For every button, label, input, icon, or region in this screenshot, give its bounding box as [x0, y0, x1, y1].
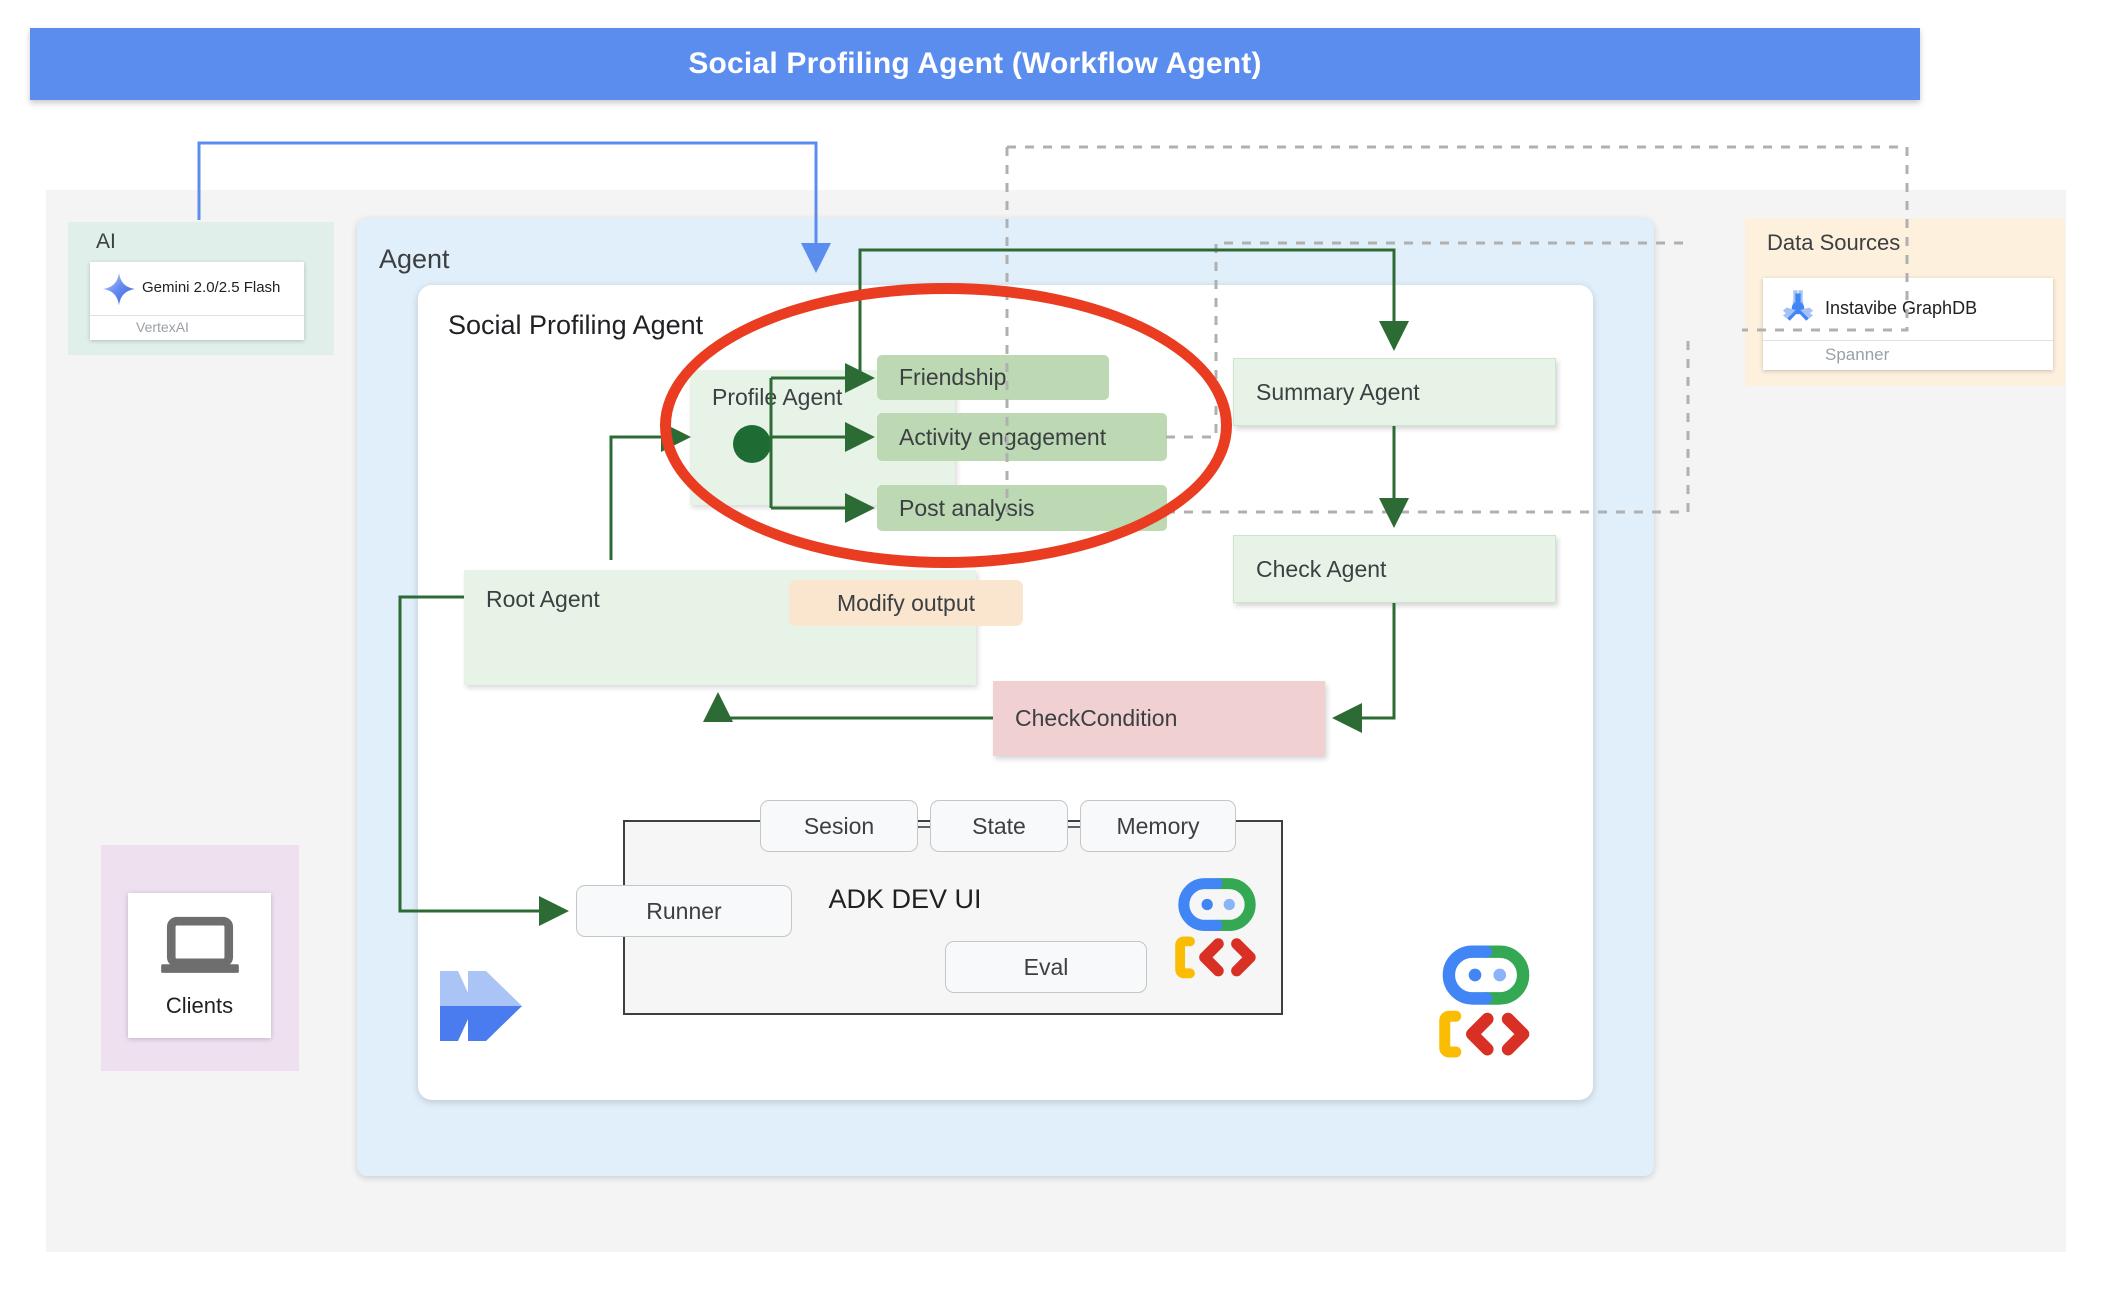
clients-label: Clients — [166, 993, 233, 1019]
adk-logo-icon — [1174, 874, 1260, 994]
node-check-condition-label: CheckCondition — [1015, 705, 1177, 732]
gemini-sparkle-icon — [96, 266, 142, 312]
node-check-condition[interactable]: CheckCondition — [993, 681, 1325, 756]
chip-connector-state-memory — [1068, 826, 1080, 828]
node-check-agent-label: Check Agent — [1256, 556, 1386, 583]
diagram-canvas: Social Profiling Agent (Workflow Agent) … — [0, 0, 2120, 1292]
chip-runner-label: Runner — [646, 898, 721, 925]
chip-state[interactable]: State — [930, 800, 1068, 852]
chip-connector-sesion-state — [918, 826, 930, 828]
node-friendship[interactable]: Friendship — [877, 355, 1109, 400]
node-summary-agent[interactable]: Summary Agent — [1233, 358, 1556, 426]
node-summary-agent-label: Summary Agent — [1256, 379, 1420, 406]
node-root-agent-label: Root Agent — [486, 586, 600, 613]
ai-group: AI Gemini 2.0/2.5 Fl — [68, 222, 334, 355]
chip-runner[interactable]: Runner — [576, 885, 792, 937]
gemini-platform-label: VertexAI — [136, 319, 189, 335]
adk-logo-icon — [1437, 942, 1535, 1074]
node-post-analysis[interactable]: Post analysis — [877, 485, 1167, 531]
node-post-analysis-label: Post analysis — [899, 495, 1035, 522]
data-sources-group: Data Sources — [1745, 218, 2065, 386]
social-profiling-agent-title: Social Profiling Agent — [448, 310, 703, 341]
node-activity-engagement[interactable]: Activity engagement — [877, 413, 1167, 461]
chip-eval[interactable]: Eval — [945, 941, 1147, 993]
chip-state-label: State — [972, 813, 1026, 840]
gemini-model-card[interactable]: Gemini 2.0/2.5 Flash VertexAI — [90, 262, 304, 340]
spanner-icon — [1773, 283, 1825, 335]
chip-sesion-label: Sesion — [804, 813, 874, 840]
agent-panel-label: Agent — [379, 244, 450, 275]
node-activity-engagement-label: Activity engagement — [899, 424, 1106, 451]
chip-memory[interactable]: Memory — [1080, 800, 1236, 852]
agent-engine-chevron-icon — [432, 965, 528, 1047]
node-check-agent[interactable]: Check Agent — [1233, 535, 1556, 603]
laptop-icon — [154, 912, 246, 987]
node-modify-output-label: Modify output — [837, 590, 975, 617]
header-banner: Social Profiling Agent (Workflow Agent) — [30, 28, 1920, 100]
data-source-platform-label: Spanner — [1825, 345, 1889, 364]
ai-group-label: AI — [96, 230, 116, 254]
node-modify-output[interactable]: Modify output — [789, 580, 1023, 626]
instavibe-graphdb-card[interactable]: Instavibe GraphDB Spanner — [1763, 278, 2053, 370]
node-friendship-label: Friendship — [899, 364, 1006, 391]
gemini-model-name: Gemini 2.0/2.5 Flash — [142, 280, 280, 297]
profile-agent-dot-icon — [733, 425, 771, 463]
data-sources-label: Data Sources — [1767, 230, 1900, 256]
page-title: Social Profiling Agent (Workflow Agent) — [688, 47, 1261, 81]
chip-memory-label: Memory — [1116, 813, 1199, 840]
chip-sesion[interactable]: Sesion — [760, 800, 918, 852]
data-source-name: Instavibe GraphDB — [1825, 298, 1977, 320]
clients-card[interactable]: Clients — [128, 893, 271, 1038]
node-profile-agent-label: Profile Agent — [712, 384, 842, 411]
chip-eval-label: Eval — [1024, 954, 1069, 981]
clients-group: Clients — [101, 845, 299, 1071]
